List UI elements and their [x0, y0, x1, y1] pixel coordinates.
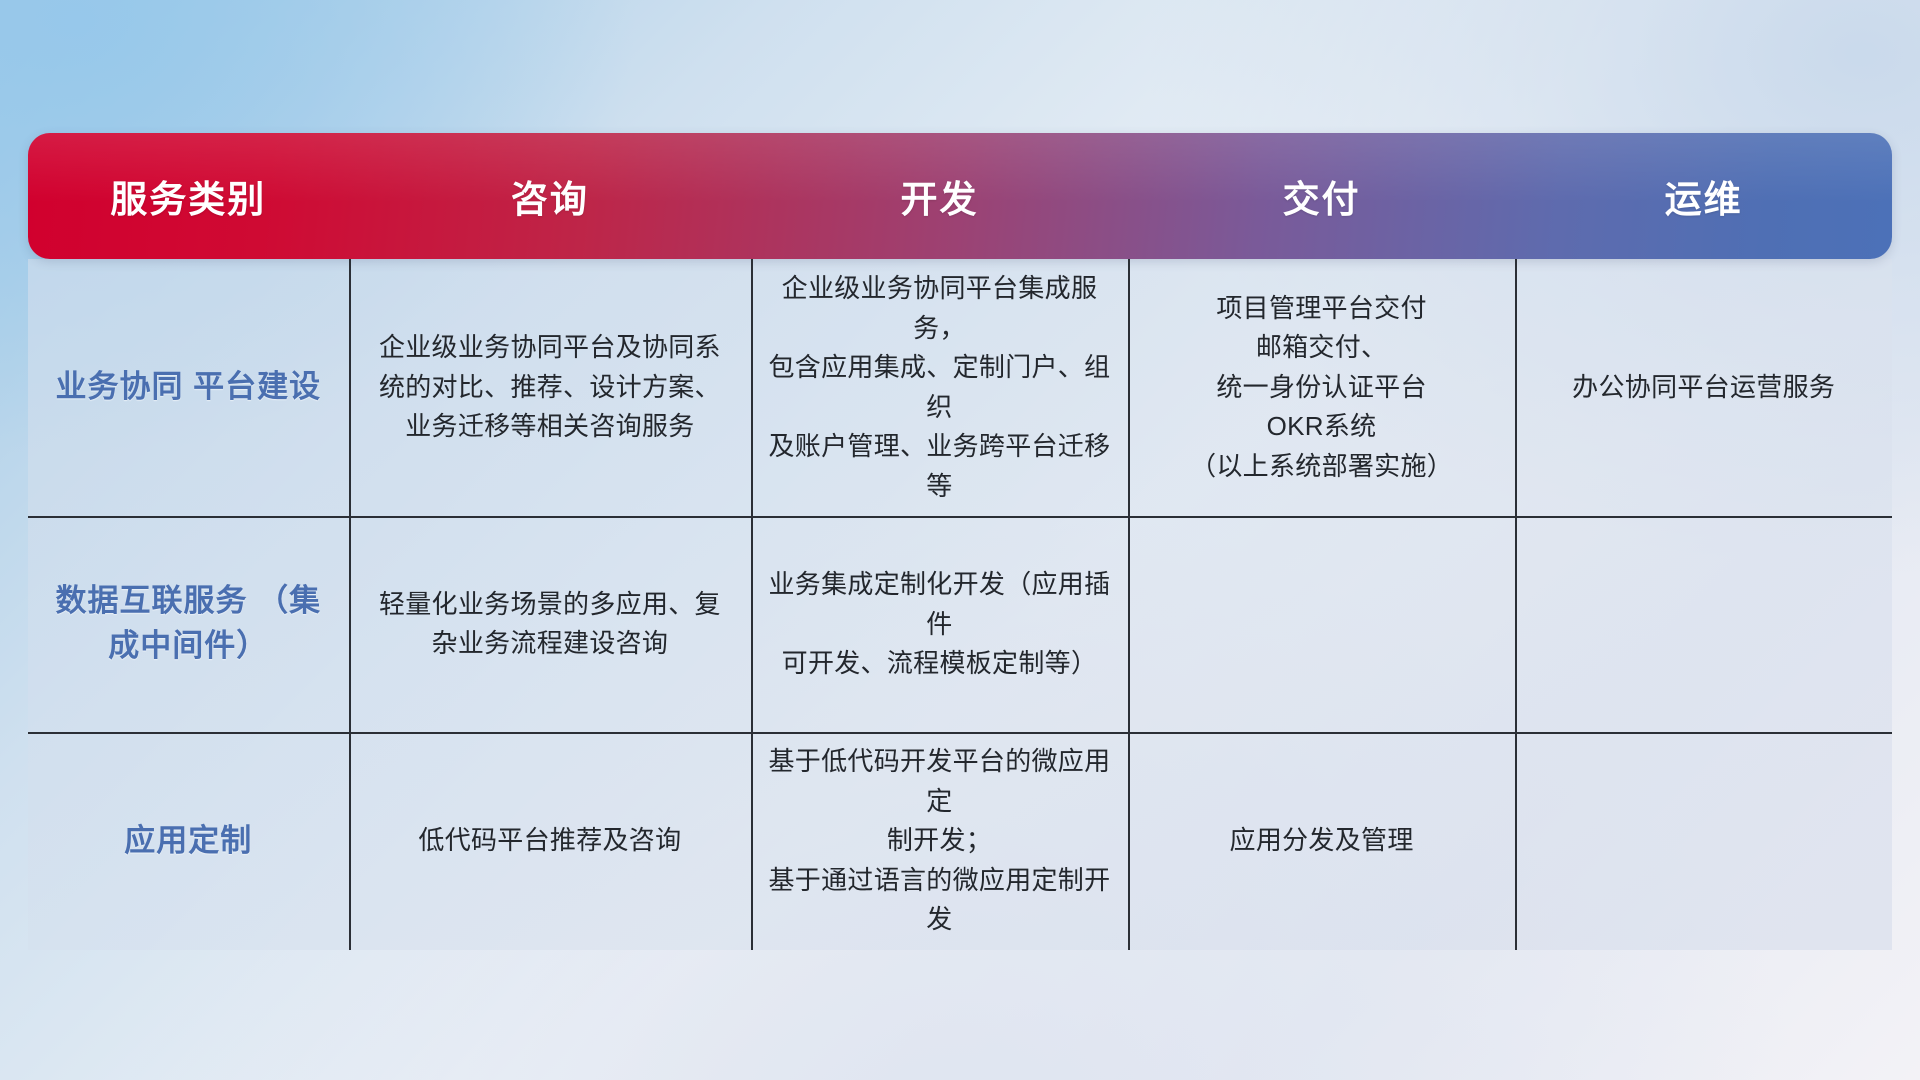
cell-delivery: 应用分发及管理	[1128, 732, 1516, 950]
column-header-delivery: 交付	[1128, 133, 1516, 259]
service-matrix-table: 服务类别 咨询 开发 交付 运维 业务协同 平台建设 企业级业务协同平台及协同系…	[28, 133, 1892, 950]
cell-operations: 办公协同平台运营服务	[1515, 259, 1892, 516]
cell-operations	[1515, 732, 1892, 950]
table-row: 数据互联服务 （集成中间件） 轻量化业务场景的多应用、复 杂业务流程建设咨询 业…	[28, 516, 1892, 732]
cell-consulting: 轻量化业务场景的多应用、复 杂业务流程建设咨询	[349, 516, 752, 732]
table-row: 业务协同 平台建设 企业级业务协同平台及协同系 统的对比、推荐、设计方案、 业务…	[28, 259, 1892, 516]
row-label-app-customization: 应用定制	[28, 732, 349, 950]
row-label-business-collaboration: 业务协同 平台建设	[28, 259, 349, 516]
cell-delivery	[1128, 516, 1516, 732]
row-label-data-integration: 数据互联服务 （集成中间件）	[28, 516, 349, 732]
cell-operations	[1515, 516, 1892, 732]
table-row: 应用定制 低代码平台推荐及咨询 基于低代码开发平台的微应用定 制开发； 基于通过…	[28, 732, 1892, 950]
table-header-row: 服务类别 咨询 开发 交付 运维	[28, 133, 1892, 259]
cell-development: 企业级业务协同平台集成服务， 包含应用集成、定制门户、组织 及账户管理、业务跨平…	[751, 259, 1128, 516]
column-header-development: 开发	[751, 133, 1128, 259]
cell-consulting: 企业级业务协同平台及协同系 统的对比、推荐、设计方案、 业务迁移等相关咨询服务	[349, 259, 752, 516]
column-header-operations: 运维	[1515, 133, 1892, 259]
cell-development: 基于低代码开发平台的微应用定 制开发； 基于通过语言的微应用定制开发	[751, 732, 1128, 950]
cell-consulting: 低代码平台推荐及咨询	[349, 732, 752, 950]
column-header-category: 服务类别	[28, 133, 349, 259]
cell-development: 业务集成定制化开发（应用插件 可开发、流程模板定制等）	[751, 516, 1128, 732]
table-body: 业务协同 平台建设 企业级业务协同平台及协同系 统的对比、推荐、设计方案、 业务…	[28, 259, 1892, 950]
column-header-consulting: 咨询	[349, 133, 752, 259]
cell-delivery: 项目管理平台交付 邮箱交付、 统一身份认证平台 OKR系统 （以上系统部署实施）	[1128, 259, 1516, 516]
